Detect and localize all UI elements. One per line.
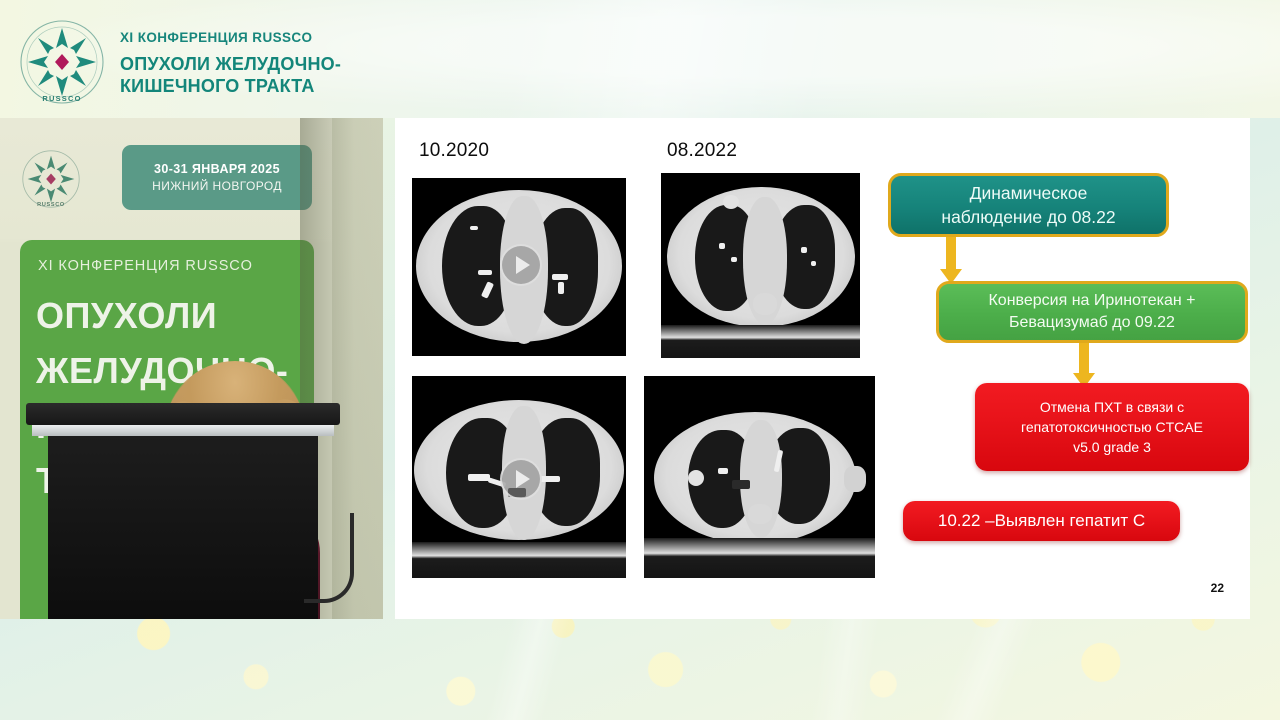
ct-scan-2020-upper[interactable] [412, 178, 626, 356]
podium-rail [32, 425, 334, 436]
flow-box4-text: 10.22 –Выявлен гепатит С [938, 510, 1145, 532]
ct-nodule [688, 470, 704, 486]
banner-date: 30-31 ЯНВАРЯ 2025 [154, 162, 280, 176]
ct-vessel [540, 476, 560, 482]
ct-vessel [558, 282, 564, 294]
ct-vessel [468, 474, 490, 481]
slide-number: 22 [1211, 581, 1224, 595]
flow-box3-line2: гепатотоксичностью CTCAE [1021, 417, 1203, 437]
ct-vessel [801, 247, 807, 253]
podium-top [26, 403, 340, 425]
flow-box-hepatitis-c: 10.22 –Выявлен гепатит С [903, 501, 1180, 541]
flow-box2-line2: Бевацизумаб до 09.22 [988, 312, 1195, 334]
flow-box-chemo-cancelled: Отмена ПХТ в связи с гепатотоксичностью … [975, 383, 1249, 471]
banner-city: НИЖНИЙ НОВГОРОД [152, 179, 282, 193]
podium-cable [304, 513, 354, 603]
banner-date-box: 30-31 ЯНВАРЯ 2025 НИЖНИЙ НОВГОРОД [122, 145, 312, 210]
play-icon[interactable] [500, 244, 542, 286]
header-text-block: XI КОНФЕРЕНЦИЯ RUSSCO ОПУХОЛИ ЖЕЛУДОЧНО-… [120, 30, 341, 97]
ct-vessel [719, 243, 725, 249]
flow-box2-line1: Конверсия на Иринотекан + [988, 290, 1195, 312]
podium-body [48, 436, 318, 619]
flow-arrow-1 [938, 237, 964, 285]
speaker-video-panel[interactable]: RUSSCO 30-31 ЯНВАРЯ 2025 НИЖНИЙ НОВГОРОД… [0, 118, 383, 619]
svg-text:RUSSCO: RUSSCO [42, 94, 81, 103]
flow-box1-line1: Динамическое [941, 181, 1115, 205]
page-title-line1: ОПУХОЛИ ЖЕЛУДОЧНО- [120, 53, 341, 75]
ct-vessel [470, 226, 478, 230]
page-title: ОПУХОЛИ ЖЕЛУДОЧНО- КИШЕЧНОГО ТРАКТА [120, 53, 341, 97]
ct-airway [732, 480, 750, 489]
play-triangle [516, 256, 530, 274]
arrow-stem [946, 237, 956, 271]
ct-scan-2022-lower[interactable] [644, 376, 875, 578]
podium [18, 403, 348, 619]
play-triangle [516, 470, 530, 488]
banner-title-line1: ОПУХОЛИ [36, 288, 288, 343]
ct-scanner-table [661, 325, 860, 358]
ct-vessel [552, 274, 568, 280]
ct-scanner-table [644, 538, 875, 578]
ct-spine [753, 293, 777, 315]
page-header: RUSSCO XI КОНФЕРЕНЦИЯ RUSSCO ОПУХОЛИ ЖЕЛ… [0, 0, 1280, 118]
ct-scan-2022-upper[interactable] [661, 173, 860, 358]
presentation-slide: 10.2020 08.2022 [395, 118, 1250, 619]
russco-logo: RUSSCO [14, 16, 110, 108]
ct-arm-section [844, 466, 866, 492]
arrow-stem [1079, 343, 1089, 375]
ct-vessel [811, 261, 816, 266]
flow-box3-line3: v5.0 grade 3 [1021, 437, 1203, 457]
ct-spine [748, 504, 772, 524]
page-title-line2: КИШЕЧНОГО ТРАКТА [120, 75, 341, 97]
ct-date-label-right: 08.2022 [667, 140, 737, 162]
ct-scanner-table [412, 542, 626, 578]
screen: RUSSCO XI КОНФЕРЕНЦИЯ RUSSCO ОПУХОЛИ ЖЕЛ… [0, 0, 1280, 720]
ct-nodule [723, 195, 739, 209]
banner-russco-logo: RUSSCO [18, 146, 84, 212]
flow-box-dynamic-observation: Динамическое наблюдение до 08.22 [888, 173, 1169, 237]
ct-scan-2020-lower[interactable] [412, 376, 626, 578]
play-icon[interactable] [500, 458, 542, 500]
svg-text:RUSSCO: RUSSCO [37, 202, 65, 208]
banner-conference-line: XI КОНФЕРЕНЦИЯ RUSSCO [38, 258, 253, 274]
ct-vessel [478, 270, 492, 275]
ct-vessel [731, 257, 737, 262]
flow-box-conversion-irinotecan: Конверсия на Иринотекан + Бевацизумаб до… [936, 281, 1248, 343]
ct-vessel [718, 468, 728, 474]
header-conference-line: XI КОНФЕРЕНЦИЯ RUSSCO [120, 30, 341, 46]
flow-box3-line1: Отмена ПХТ в связи с [1021, 397, 1203, 417]
flow-box1-line2: наблюдение до 08.22 [941, 205, 1115, 229]
ct-date-label-left: 10.2020 [419, 140, 489, 162]
